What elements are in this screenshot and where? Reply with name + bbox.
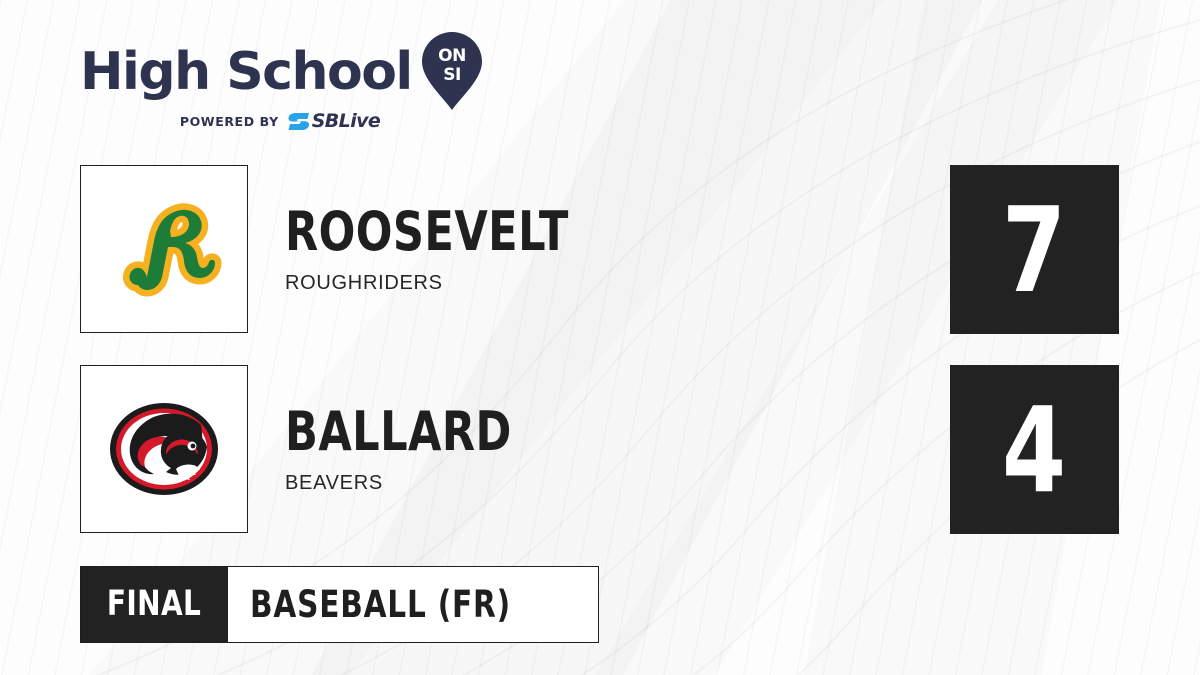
ballard-beaver-head-logo	[104, 389, 224, 509]
status-badge: FINAL	[81, 567, 228, 642]
team-nickname: ROUGHRIDERS	[285, 272, 640, 294]
team-text-block: ROOSEVELT ROUGHRIDERS	[285, 165, 640, 333]
game-status-bar: FINAL BASEBALL (FR)	[80, 566, 599, 643]
team-logo-box	[80, 365, 248, 533]
pin-bottom-label: SI	[443, 65, 461, 85]
pin-top-label: ON	[438, 46, 466, 66]
brand-wordmark: High School	[80, 46, 412, 98]
team-score: 4	[1002, 391, 1066, 509]
sblive-s-mark-icon	[288, 112, 310, 131]
team-name: BALLARD	[285, 405, 512, 459]
team-name: ROOSEVELT	[285, 205, 569, 259]
sport-label-container: BASEBALL (FR)	[228, 567, 598, 642]
sblive-logo: SBLive	[288, 112, 380, 131]
team-text-block: BALLARD BEAVERS	[285, 365, 568, 533]
status-badge-label: FINAL	[107, 587, 202, 622]
team-logo-box	[80, 165, 248, 333]
brand-header: High School ON SI POWERED BY SBLive	[80, 38, 510, 138]
team-score-box: 4	[950, 365, 1119, 534]
sblive-wordmark: SBLive	[312, 112, 380, 131]
team-score: 7	[1002, 191, 1066, 309]
powered-by-label: POWERED BY	[180, 114, 279, 129]
roosevelt-script-r-logo	[100, 185, 228, 313]
team-score-box: 7	[950, 165, 1119, 334]
powered-by-row: POWERED BY SBLive	[80, 110, 480, 132]
team-row: ROOSEVELT ROUGHRIDERS 7	[0, 165, 1200, 335]
sport-label: BASEBALL (FR)	[250, 586, 511, 623]
brand-wordmark-row: High School ON SI	[80, 38, 510, 106]
team-nickname: BEAVERS	[285, 472, 568, 494]
team-row: BALLARD BEAVERS 4	[0, 365, 1200, 535]
scoreboard-graphic: High School ON SI POWERED BY SBLive	[0, 0, 1200, 675]
map-pin-icon: ON SI	[420, 30, 484, 112]
